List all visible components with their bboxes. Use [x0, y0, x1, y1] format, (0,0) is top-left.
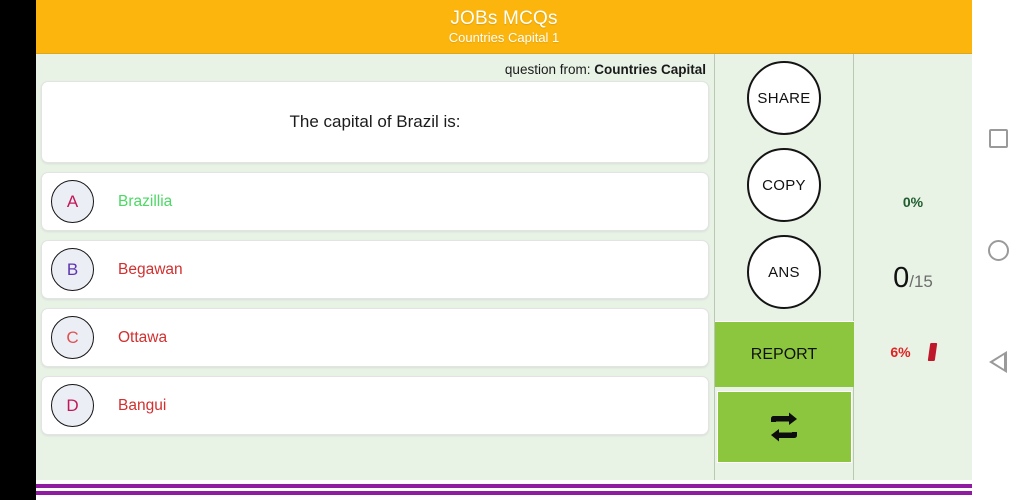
option-row-d[interactable]: D Bangui	[41, 376, 709, 435]
copy-button[interactable]: COPY	[747, 148, 821, 222]
option-text-d: Bangui	[118, 397, 166, 415]
option-row-c[interactable]: C Ottawa	[41, 308, 709, 367]
recents-button[interactable]	[972, 82, 1024, 194]
app-title: JOBs MCQs	[450, 8, 557, 30]
accent-line-top	[36, 484, 990, 488]
option-row-a[interactable]: A Brazillia	[41, 172, 709, 231]
app-header: JOBs MCQs Countries Capital 1	[36, 0, 972, 54]
quiz-panel: question from: Countries Capital The cap…	[36, 54, 715, 500]
home-button[interactable]	[972, 194, 1024, 306]
percent-correct: 0%	[903, 194, 923, 210]
circle-icon	[988, 240, 1009, 261]
wrong-marker-bar	[927, 343, 937, 361]
app-subtitle: Countries Capital 1	[449, 30, 560, 46]
question-source-label: question from:	[505, 62, 591, 77]
app-window: JOBs MCQs Countries Capital 1 question f…	[36, 0, 972, 500]
score-display: 0 /15	[893, 262, 933, 295]
repeat-icon	[767, 412, 801, 442]
option-text-a: Brazillia	[118, 193, 172, 211]
score-current: 0	[893, 262, 909, 295]
stats-panel: 0% 0 /15 6%	[854, 54, 972, 500]
percent-wrong: 6%	[890, 344, 910, 360]
option-text-c: Ottawa	[118, 329, 167, 347]
app-body: question from: Countries Capital The cap…	[36, 54, 972, 500]
back-button[interactable]	[972, 306, 1024, 418]
share-button[interactable]: SHARE	[747, 61, 821, 135]
question-card: The capital of Brazil is:	[41, 81, 709, 163]
bottom-accent-bars	[36, 480, 990, 500]
option-letter-c: C	[51, 316, 94, 359]
accent-line-bottom	[36, 491, 990, 495]
option-letter-b: B	[51, 248, 94, 291]
option-row-b[interactable]: B Begawan	[41, 240, 709, 299]
triangle-back-icon	[989, 351, 1007, 373]
option-text-b: Begawan	[118, 261, 183, 279]
device-left-bezel	[0, 0, 36, 500]
android-navigation-bar	[972, 0, 1024, 500]
square-icon	[989, 129, 1008, 148]
question-text: The capital of Brazil is:	[289, 112, 460, 132]
report-button[interactable]: REPORT	[715, 321, 854, 387]
repeat-button[interactable]	[717, 391, 852, 463]
actions-panel: SHARE COPY ANS REPORT	[715, 54, 854, 500]
option-letter-a: A	[51, 180, 94, 223]
option-letter-d: D	[51, 384, 94, 427]
question-source-value: Countries Capital	[594, 62, 706, 77]
answer-button[interactable]: ANS	[747, 235, 821, 309]
wrong-stat-group: 6%	[890, 343, 935, 361]
question-source-line: question from: Countries Capital	[40, 58, 710, 81]
score-total: /15	[909, 272, 933, 292]
